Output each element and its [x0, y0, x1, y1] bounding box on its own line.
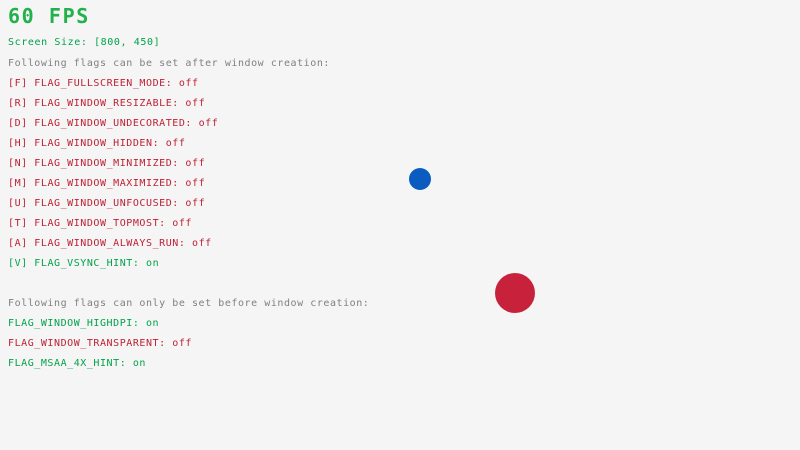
flag-row-flag-window-maximized[interactable]: [M] FLAG_WINDOW_MAXIMIZED: off: [8, 179, 205, 189]
flag-row-flag-window-highdpi[interactable]: FLAG_WINDOW_HIGHDPI: on: [8, 319, 159, 329]
flag-name: FLAG_WINDOW_TOPMOST:: [34, 218, 172, 229]
flag-value: off: [192, 238, 212, 249]
ball-red: [495, 273, 535, 313]
flag-name: FLAG_WINDOW_HIDDEN:: [34, 138, 165, 149]
flag-name: FLAG_VSYNC_HINT:: [34, 258, 146, 269]
fps-counter: 60 FPS: [8, 6, 90, 26]
flag-name: FLAG_WINDOW_UNFOCUSED:: [34, 198, 185, 209]
flag-value: off: [199, 118, 219, 129]
app-window: 60 FPS Screen Size: [800, 450] Following…: [0, 0, 800, 450]
flag-hotkey: [T]: [8, 218, 34, 229]
flag-name: FLAG_WINDOW_UNDECORATED:: [34, 118, 198, 129]
flag-name: FLAG_WINDOW_TRANSPARENT:: [8, 338, 172, 349]
flag-name: FLAG_WINDOW_HIGHDPI:: [8, 318, 146, 329]
flag-value: on: [146, 258, 159, 269]
flag-row-flag-window-topmost[interactable]: [T] FLAG_WINDOW_TOPMOST: off: [8, 219, 192, 229]
flag-value: off: [166, 138, 186, 149]
flag-hotkey: [V]: [8, 258, 34, 269]
creation-flags-heading: Following flags can only be set before w…: [8, 299, 369, 309]
flag-row-flag-window-undecorated[interactable]: [D] FLAG_WINDOW_UNDECORATED: off: [8, 119, 218, 129]
flag-row-flag-window-always-run[interactable]: [A] FLAG_WINDOW_ALWAYS_RUN: off: [8, 239, 212, 249]
flag-row-flag-msaa-4x-hint[interactable]: FLAG_MSAA_4X_HINT: on: [8, 359, 146, 369]
flag-row-flag-vsync-hint[interactable]: [V] FLAG_VSYNC_HINT: on: [8, 259, 159, 269]
runtime-flags-heading: Following flags can be set after window …: [8, 59, 330, 69]
flag-row-flag-window-hidden[interactable]: [H] FLAG_WINDOW_HIDDEN: off: [8, 139, 185, 149]
flag-name: FLAG_WINDOW_MAXIMIZED:: [34, 178, 185, 189]
flag-name: FLAG_WINDOW_RESIZABLE:: [34, 98, 185, 109]
flag-name: FLAG_WINDOW_ALWAYS_RUN:: [34, 238, 192, 249]
flag-name: FLAG_MSAA_4X_HINT:: [8, 358, 133, 369]
ball-blue: [409, 168, 431, 190]
flag-row-flag-window-unfocused[interactable]: [U] FLAG_WINDOW_UNFOCUSED: off: [8, 199, 205, 209]
flag-hotkey: [A]: [8, 238, 34, 249]
flag-hotkey: [H]: [8, 138, 34, 149]
screen-size-label: Screen Size: [800, 450]: [8, 38, 160, 48]
flag-hotkey: [R]: [8, 98, 34, 109]
flag-value: on: [146, 318, 159, 329]
flag-value: off: [185, 198, 205, 209]
flag-row-flag-fullscreen-mode[interactable]: [F] FLAG_FULLSCREEN_MODE: off: [8, 79, 199, 89]
flag-value: on: [133, 358, 146, 369]
flag-row-flag-window-minimized[interactable]: [N] FLAG_WINDOW_MINIMIZED: off: [8, 159, 205, 169]
flag-hotkey: [F]: [8, 78, 34, 89]
flag-value: off: [185, 178, 205, 189]
flag-row-flag-window-resizable[interactable]: [R] FLAG_WINDOW_RESIZABLE: off: [8, 99, 205, 109]
flag-hotkey: [D]: [8, 118, 34, 129]
flag-name: FLAG_WINDOW_MINIMIZED:: [34, 158, 185, 169]
flag-hotkey: [M]: [8, 178, 34, 189]
flag-hotkey: [U]: [8, 198, 34, 209]
flag-row-flag-window-transparent[interactable]: FLAG_WINDOW_TRANSPARENT: off: [8, 339, 192, 349]
flag-value: off: [179, 78, 199, 89]
flag-hotkey: [N]: [8, 158, 34, 169]
flag-name: FLAG_FULLSCREEN_MODE:: [34, 78, 179, 89]
flag-value: off: [172, 338, 192, 349]
flag-value: off: [185, 158, 205, 169]
flag-value: off: [172, 218, 192, 229]
flag-value: off: [185, 98, 205, 109]
